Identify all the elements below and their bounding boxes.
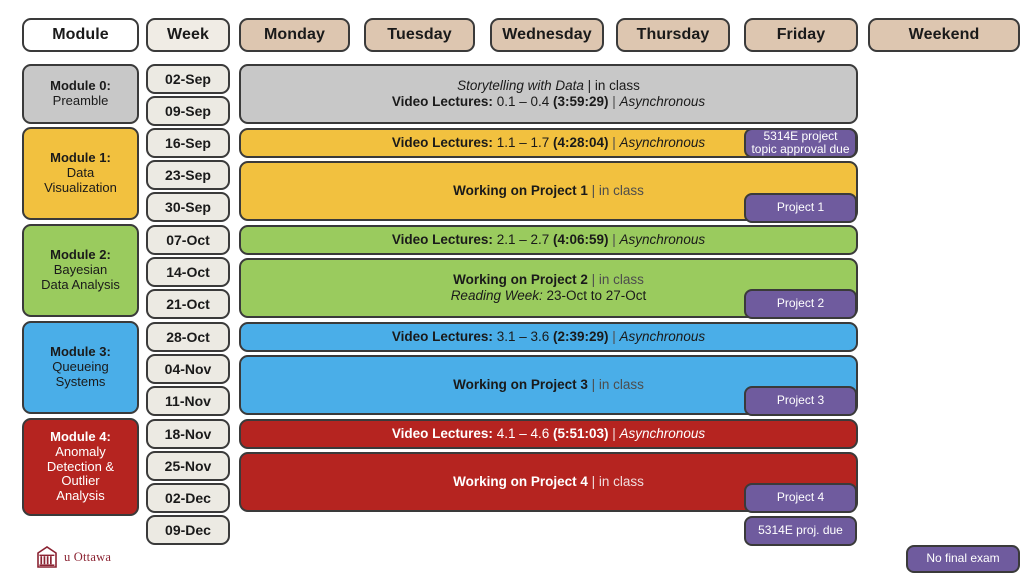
content-line-lectures-m2: Video Lectures: 2.1 – 2.7 (4:06:59) | As… (392, 232, 705, 248)
content-bar-module0: Storytelling with Data | in class Video … (239, 64, 858, 124)
reading-week-dates: 23-Oct to 27-Oct (543, 288, 647, 303)
module-title-4: Module 4: (50, 430, 111, 445)
module-cell-2: Module 2: Bayesian Data Analysis (22, 224, 139, 317)
header-label-friday: Friday (777, 26, 826, 44)
module-cell-1: Module 1: Data Visualization (22, 127, 139, 220)
week-cell-0: 02-Sep (146, 64, 230, 94)
project-label-m3: Working on Project 3 (453, 377, 588, 392)
week-cell-13: 02-Dec (146, 483, 230, 513)
week-cell-14: 09-Dec (146, 515, 230, 545)
header-cell-week: Week (146, 18, 230, 52)
lectures-range-m4: 4.1 – 4.6 (493, 426, 553, 441)
module-subtitle-4: Anomaly (55, 445, 106, 460)
header-cell-tuesday: Tuesday (364, 18, 475, 52)
content-bar-module2-lectures: Video Lectures: 2.1 – 2.7 (4:06:59) | As… (239, 225, 858, 255)
lectures-range-m3: 3.1 – 3.6 (493, 329, 553, 344)
project-rest-m4: | in class (588, 474, 644, 489)
week-cell-9: 04-Nov (146, 354, 230, 384)
week-cell-1: 09-Sep (146, 96, 230, 126)
content-line-project-m3: Working on Project 3 | in class (453, 377, 644, 393)
module-subtitle-4-cont2: Outlier (61, 474, 99, 489)
week-cell-10: 11-Nov (146, 386, 230, 416)
content-line-project-m1: Working on Project 1 | in class (453, 183, 644, 199)
module-title-1: Module 1: (50, 151, 111, 166)
week-label-3: 23-Sep (165, 167, 211, 183)
week-cell-8: 28-Oct (146, 322, 230, 352)
badge-project-1-due[interactable]: Project 1 (744, 193, 857, 223)
content-line-project-m2: Working on Project 2 | in class (453, 272, 644, 288)
uottawa-logo: u Ottawa (36, 545, 111, 569)
content-line-lectures-m4: Video Lectures: 4.1 – 4.6 (5:51:03) | As… (392, 426, 705, 442)
header-label-module: Module (52, 26, 109, 44)
module-title-3: Module 3: (50, 345, 111, 360)
project-label-m4: Working on Project 4 (453, 474, 588, 489)
week-label-14: 09-Dec (165, 522, 211, 538)
badge-project-2-label: Project 2 (777, 297, 824, 311)
lectures-mode-m2: Asynchronous (620, 232, 706, 247)
lectures-label-m2: Video Lectures: (392, 232, 493, 247)
header-label-thursday: Thursday (637, 26, 710, 44)
week-cell-3: 23-Sep (146, 160, 230, 190)
lectures-range-m1: 1.1 – 1.7 (493, 135, 553, 150)
week-label-8: 28-Oct (166, 329, 210, 345)
lectures-range-m2: 2.1 – 2.7 (493, 232, 553, 247)
content-line-lectures-m0: Video Lectures: 0.1 – 0.4 (3:59:29) | As… (392, 94, 705, 110)
week-label-11: 18-Nov (165, 426, 212, 442)
content-bar-module3-lectures: Video Lectures: 3.1 – 3.6 (2:39:29) | As… (239, 322, 858, 352)
lectures-duration-m3: (2:39:29) (553, 329, 609, 344)
lectures-range-m0: 0.1 – 0.4 (493, 94, 553, 109)
badge-project-1-label: Project 1 (777, 201, 824, 215)
project-label-m1: Working on Project 1 (453, 183, 588, 198)
badge-project-3-label: Project 3 (777, 394, 824, 408)
week-label-5: 07-Oct (166, 232, 210, 248)
module-subtitle-1-cont: Visualization (44, 181, 117, 196)
badge-no-final-exam-label: No final exam (926, 552, 999, 566)
module-subtitle-3-cont: Systems (56, 375, 106, 390)
module-subtitle-2-cont: Data Analysis (41, 278, 120, 293)
week-label-1: 09-Sep (165, 103, 211, 119)
project-rest-m2: | in class (588, 272, 644, 287)
week-label-0: 02-Sep (165, 71, 211, 87)
module-cell-0: Module 0: Preamble (22, 64, 139, 124)
reading-week-label: Reading Week: (451, 288, 543, 303)
lectures-mode-m4: Asynchronous (620, 426, 706, 441)
project-label-m2: Working on Project 2 (453, 272, 588, 287)
lectures-label-m0: Video Lectures: (392, 94, 493, 109)
module-cell-3: Module 3: Queueing Systems (22, 321, 139, 414)
badge-project-4-due[interactable]: Project 4 (744, 483, 857, 513)
badge-project-3-due[interactable]: Project 3 (744, 386, 857, 416)
project-rest-m1: | in class (588, 183, 644, 198)
header-label-week: Week (167, 26, 209, 44)
storytelling-rest: | in class (584, 78, 640, 93)
header-label-monday: Monday (264, 26, 325, 44)
lectures-mode-m0: Asynchronous (620, 94, 706, 109)
week-label-6: 14-Oct (166, 264, 210, 280)
header-cell-module: Module (22, 18, 139, 52)
badge-topic-approval-line2: topic approval due (751, 143, 849, 156)
lectures-label-m1: Video Lectures: (392, 135, 493, 150)
lectures-label-m3: Video Lectures: (392, 329, 493, 344)
header-label-weekend: Weekend (909, 26, 980, 44)
lectures-sep-m3: | (609, 329, 620, 344)
badge-no-final-exam[interactable]: No final exam (906, 545, 1020, 573)
week-label-2: 16-Sep (165, 135, 211, 151)
content-bar-module4-lectures: Video Lectures: 4.1 – 4.6 (5:51:03) | As… (239, 419, 858, 449)
header-cell-weekend: Weekend (868, 18, 1020, 52)
module-subtitle-2: Bayesian (54, 263, 107, 278)
week-label-12: 25-Nov (165, 458, 212, 474)
week-label-7: 21-Oct (166, 296, 210, 312)
lectures-sep-m2: | (609, 232, 620, 247)
lectures-sep-m0: | (609, 94, 620, 109)
badge-final-project-label: 5314E proj. due (758, 524, 843, 538)
lectures-mode-m3: Asynchronous (620, 329, 706, 344)
week-cell-5: 07-Oct (146, 225, 230, 255)
week-cell-12: 25-Nov (146, 451, 230, 481)
module-subtitle-4-cont: Detection & (47, 460, 114, 475)
week-cell-4: 30-Sep (146, 192, 230, 222)
content-line-lectures-m3: Video Lectures: 3.1 – 3.6 (2:39:29) | As… (392, 329, 705, 345)
university-building-icon (36, 545, 58, 569)
lectures-duration-m4: (5:51:03) (553, 426, 609, 441)
badge-project-4-label: Project 4 (777, 491, 824, 505)
week-cell-2: 16-Sep (146, 128, 230, 158)
lectures-sep-m4: | (609, 426, 620, 441)
project-rest-m3: | in class (588, 377, 644, 392)
module-subtitle-4-cont3: Analysis (56, 489, 104, 504)
storytelling-title: Storytelling with Data (457, 78, 584, 93)
lectures-mode-m1: Asynchronous (620, 135, 706, 150)
week-label-13: 02-Dec (165, 490, 211, 506)
lectures-duration-m2: (4:06:59) (553, 232, 609, 247)
content-line-lectures-m1: Video Lectures: 1.1 – 1.7 (4:28:04) | As… (392, 135, 705, 151)
week-label-9: 04-Nov (165, 361, 212, 377)
module-title-2: Module 2: (50, 248, 111, 263)
header-label-tuesday: Tuesday (387, 26, 451, 44)
content-line-reading-week: Reading Week: 23-Oct to 27-Oct (451, 288, 647, 304)
module-subtitle-3: Queueing (52, 360, 108, 375)
badge-project-2-due[interactable]: Project 2 (744, 289, 857, 319)
header-cell-wednesday: Wednesday (490, 18, 604, 52)
header-cell-monday: Monday (239, 18, 350, 52)
badge-topic-approval-due[interactable]: 5314E project topic approval due (744, 128, 857, 158)
uottawa-logo-text: u Ottawa (64, 550, 111, 565)
header-label-wednesday: Wednesday (502, 26, 592, 44)
week-label-10: 11-Nov (165, 393, 211, 409)
badge-final-project-due[interactable]: 5314E proj. due (744, 516, 857, 546)
week-cell-6: 14-Oct (146, 257, 230, 287)
week-label-4: 30-Sep (165, 199, 211, 215)
week-cell-11: 18-Nov (146, 419, 230, 449)
lectures-duration-m0: (3:59:29) (553, 94, 609, 109)
module-cell-4: Module 4: Anomaly Detection & Outlier An… (22, 418, 139, 516)
header-cell-thursday: Thursday (616, 18, 730, 52)
content-line-storytelling: Storytelling with Data | in class (457, 78, 640, 94)
lectures-label-m4: Video Lectures: (392, 426, 493, 441)
lectures-sep-m1: | (609, 135, 620, 150)
module-subtitle-1: Data (67, 166, 94, 181)
module-title-0: Module 0: (50, 79, 111, 94)
header-cell-friday: Friday (744, 18, 858, 52)
module-subtitle-0: Preamble (53, 94, 109, 109)
content-line-project-m4: Working on Project 4 | in class (453, 474, 644, 490)
week-cell-7: 21-Oct (146, 289, 230, 319)
lectures-duration-m1: (4:28:04) (553, 135, 609, 150)
